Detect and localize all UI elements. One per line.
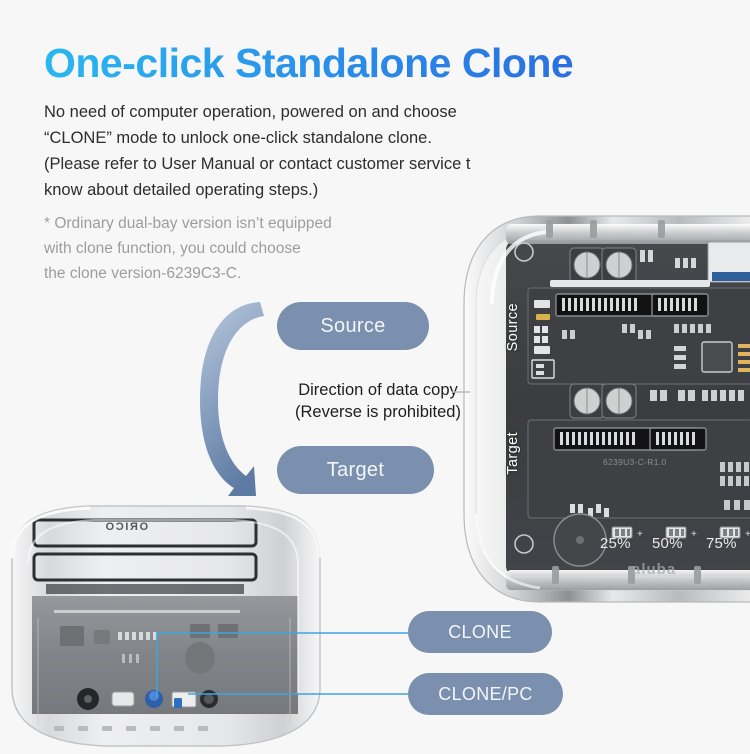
svg-text:+: + xyxy=(637,529,643,540)
direction-caption-line-1: Direction of data copy xyxy=(243,379,513,401)
dock-target-bay-label: Target xyxy=(505,432,521,475)
page-title: One-click Standalone Clone xyxy=(44,42,573,85)
pcb-revision-code: 6239U3-C-R1.0 xyxy=(603,457,666,467)
body-copy-line-3: (Please refer to User Manual or contact … xyxy=(44,151,564,177)
svg-text:+: + xyxy=(745,529,750,540)
body-copy: No need of computer operation, powered o… xyxy=(44,99,564,203)
direction-caption-line-2: (Reverse is prohibited) xyxy=(243,401,513,423)
led-indicator-50: 50% xyxy=(652,535,683,552)
footnote-line-2: with clone function, you could choose xyxy=(44,236,464,261)
body-copy-line-1: No need of computer operation, powered o… xyxy=(44,99,564,125)
footnote-line-1: * Ordinary dual-bay version isn’t equipp… xyxy=(44,211,464,236)
dual-bay-dock-rear-view-image xyxy=(0,498,334,754)
source-pill[interactable]: Source xyxy=(277,302,429,350)
orico-brand-logo: ORICO xyxy=(104,521,148,533)
target-pill[interactable]: Target xyxy=(277,446,434,494)
dock-shell-branding: aluba xyxy=(632,561,676,578)
dock-source-bay-label: Source xyxy=(505,303,521,351)
clone-mode-pill[interactable]: CLONE xyxy=(408,611,552,653)
direction-caption: Direction of data copy (Reverse is prohi… xyxy=(243,379,513,423)
body-copy-line-2: “CLONE” mode to unlock one-click standal… xyxy=(44,125,564,151)
body-copy-line-4: know about detailed operating steps.) xyxy=(44,177,564,203)
slide-canvas: One-click Standalone Clone No need of co… xyxy=(0,0,750,750)
footnote-copy: * Ordinary dual-bay version isn’t equipp… xyxy=(44,211,464,286)
led-indicator-25: 25% xyxy=(600,535,631,552)
svg-text:+: + xyxy=(691,529,697,540)
footnote-line-3: the clone version-6239C3-C. xyxy=(44,261,464,286)
clone-pc-switch-pill[interactable]: CLONE/PC xyxy=(408,673,563,715)
led-indicator-75: 75% xyxy=(706,535,737,552)
